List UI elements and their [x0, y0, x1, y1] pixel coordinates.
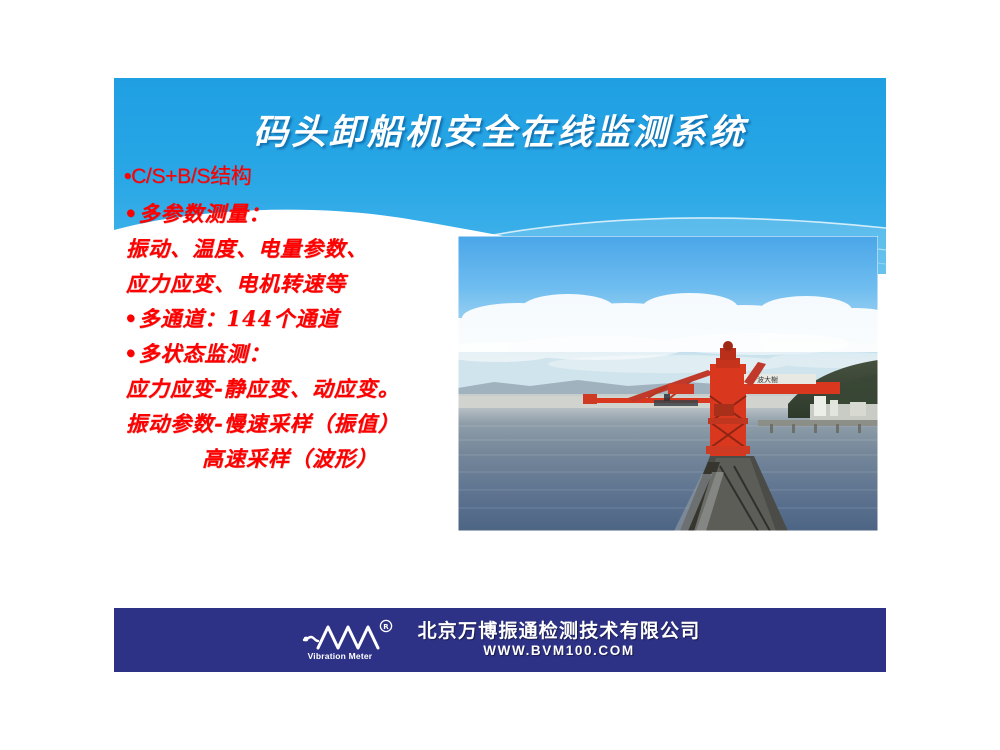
bullet-multi-parameter-text: 多参数测量： — [138, 201, 270, 226]
bullet-multi-state-text: 多状态监测： — [138, 341, 270, 366]
bullet-multi-channel-text: 多通道：144个通道 — [138, 306, 339, 331]
crane-photo: 宁波大榭 — [458, 236, 878, 531]
bullet-multi-state-heading: •多状态监测： — [124, 343, 484, 364]
footer-bar: R Vibration Meter 北京万博振通检测技术有限公司 WWW.BVM… — [114, 608, 886, 672]
bullet-marker: • — [124, 306, 138, 331]
state-vibration-slow-line: 振动参数-慢速采样（振值） — [124, 413, 484, 434]
crane-photo-image: 宁波大榭 — [458, 236, 878, 531]
bullet-architecture: •C/S+B/S结构 — [124, 166, 484, 187]
slide-canvas: 码头卸船机安全在线监测系统 — [114, 78, 886, 672]
bullet-list: •C/S+B/S结构 •多参数测量： 振动、温度、电量参数、 应力应变、电机转速… — [124, 166, 484, 483]
state-vibration-fast-line: 高速采样（波形） — [124, 448, 484, 469]
bullet-multi-parameter-heading: •多参数测量： — [124, 203, 484, 224]
company-website: WWW.BVM100.COM — [483, 644, 634, 658]
state-strain-line: 应力应变-静应变、动应变。 — [124, 378, 484, 399]
bullet-marker: • — [124, 201, 138, 226]
bullet-marker: • — [124, 341, 138, 366]
company-logo: R Vibration Meter — [300, 618, 404, 662]
svg-text:R: R — [383, 623, 389, 631]
company-identity: 北京万博振通检测技术有限公司 WWW.BVM100.COM — [418, 622, 701, 658]
footer-content: R Vibration Meter 北京万博振通检测技术有限公司 WWW.BVM… — [300, 618, 701, 662]
parameter-list-line-1: 振动、温度、电量参数、 — [124, 238, 484, 259]
bullet-marker: • — [124, 165, 131, 188]
parameter-list-line-2: 应力应变、电机转速等 — [124, 273, 484, 294]
bullet-multi-channel: •多通道：144个通道 — [124, 308, 484, 329]
page-title: 码头卸船机安全在线监测系统 — [114, 104, 886, 155]
logo-caption: Vibration Meter — [308, 651, 373, 661]
company-name: 北京万博振通检测技术有限公司 — [418, 622, 701, 642]
bullet-architecture-text: C/S+B/S结构 — [131, 165, 251, 188]
